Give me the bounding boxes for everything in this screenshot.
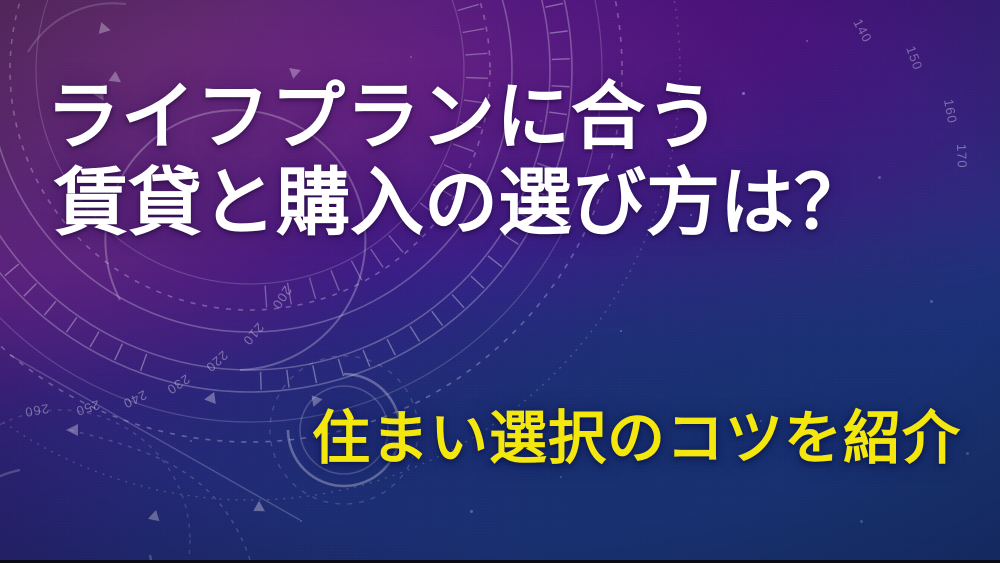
title-card-slide: 140 150 160 170 200 210 220 230 240 250 … (0, 0, 1000, 563)
headline-line-1: ライフプランに合う (46, 74, 966, 160)
headline-block: ライフプランに合う 賃貸と購入の選び方は？ (46, 74, 966, 246)
headline-line-2: 賃貸と購入の選び方は？ (54, 160, 966, 246)
subtitle-text: 住まい選択のコツを紹介 (312, 404, 961, 474)
